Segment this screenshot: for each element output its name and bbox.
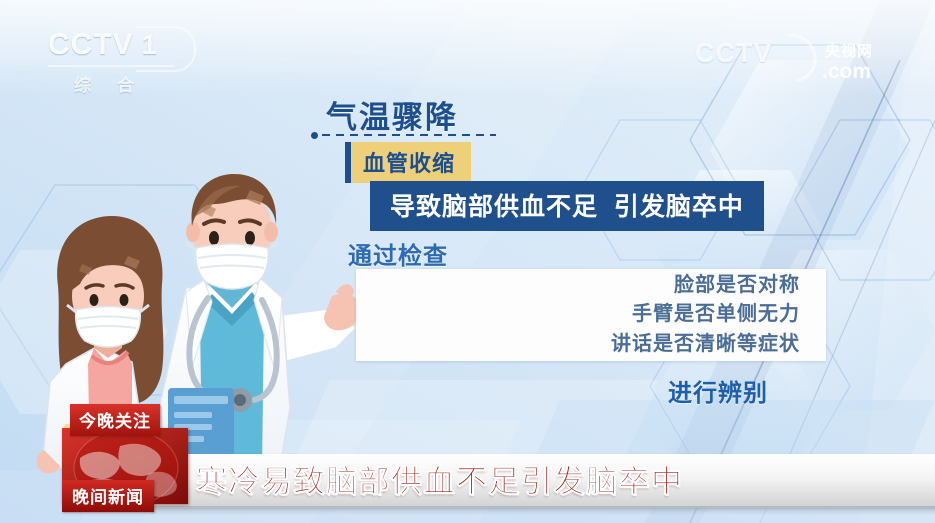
symptom-item: 脸部是否对称 — [356, 271, 800, 301]
cctv-wordmark: CCTV — [48, 28, 134, 62]
dash-divider-line — [322, 134, 496, 136]
watermark-chinese: 央视网 — [825, 40, 873, 61]
lower-third-headline: 寒冷易致脑部供血不足引发脑卒中 — [196, 456, 684, 501]
channel-subtitle: 综 合 — [48, 71, 198, 96]
badge-tonight-focus: 今晚关注 — [70, 404, 160, 436]
channel-ring-icon — [136, 26, 196, 72]
symptoms-panel: 脸部是否对称 手臂是否单侧无力 讲话是否清晰等症状 — [356, 269, 826, 361]
headline-stroke-warning: 导致脑部供血不足 引发脑卒中 — [370, 181, 764, 231]
lower-third-shadow — [150, 506, 935, 515]
broadcast-screen: CCTV 1 综 合 CCTV 央视网 .com — [0, 0, 935, 523]
headline-vasoconstriction-band: 血管收缩 — [345, 142, 471, 183]
cctv-channel-bug: CCTV 1 综 合 — [48, 28, 198, 98]
dash-divider-dot-icon — [311, 132, 318, 139]
symptom-item: 手臂是否单侧无力 — [356, 300, 800, 330]
channel-subtitle-left: 综 — [74, 71, 91, 96]
badge-evening-news: 晚间新闻 — [62, 480, 154, 512]
headline-dash-divider — [311, 130, 496, 140]
program-badge-group: 今晚关注 晚间新闻 — [62, 404, 194, 504]
headline-vasoconstriction: 血管收缩 — [351, 142, 471, 183]
symptom-item: 讲话是否清晰等症状 — [356, 330, 800, 360]
label-perform-identification: 进行辨别 — [668, 373, 768, 408]
channel-subtitle-right: 合 — [117, 71, 134, 96]
watermark-domain: .com — [822, 60, 871, 84]
label-through-examination: 通过检查 — [348, 236, 448, 271]
cctv-com-watermark: CCTV 央视网 .com — [695, 38, 875, 86]
